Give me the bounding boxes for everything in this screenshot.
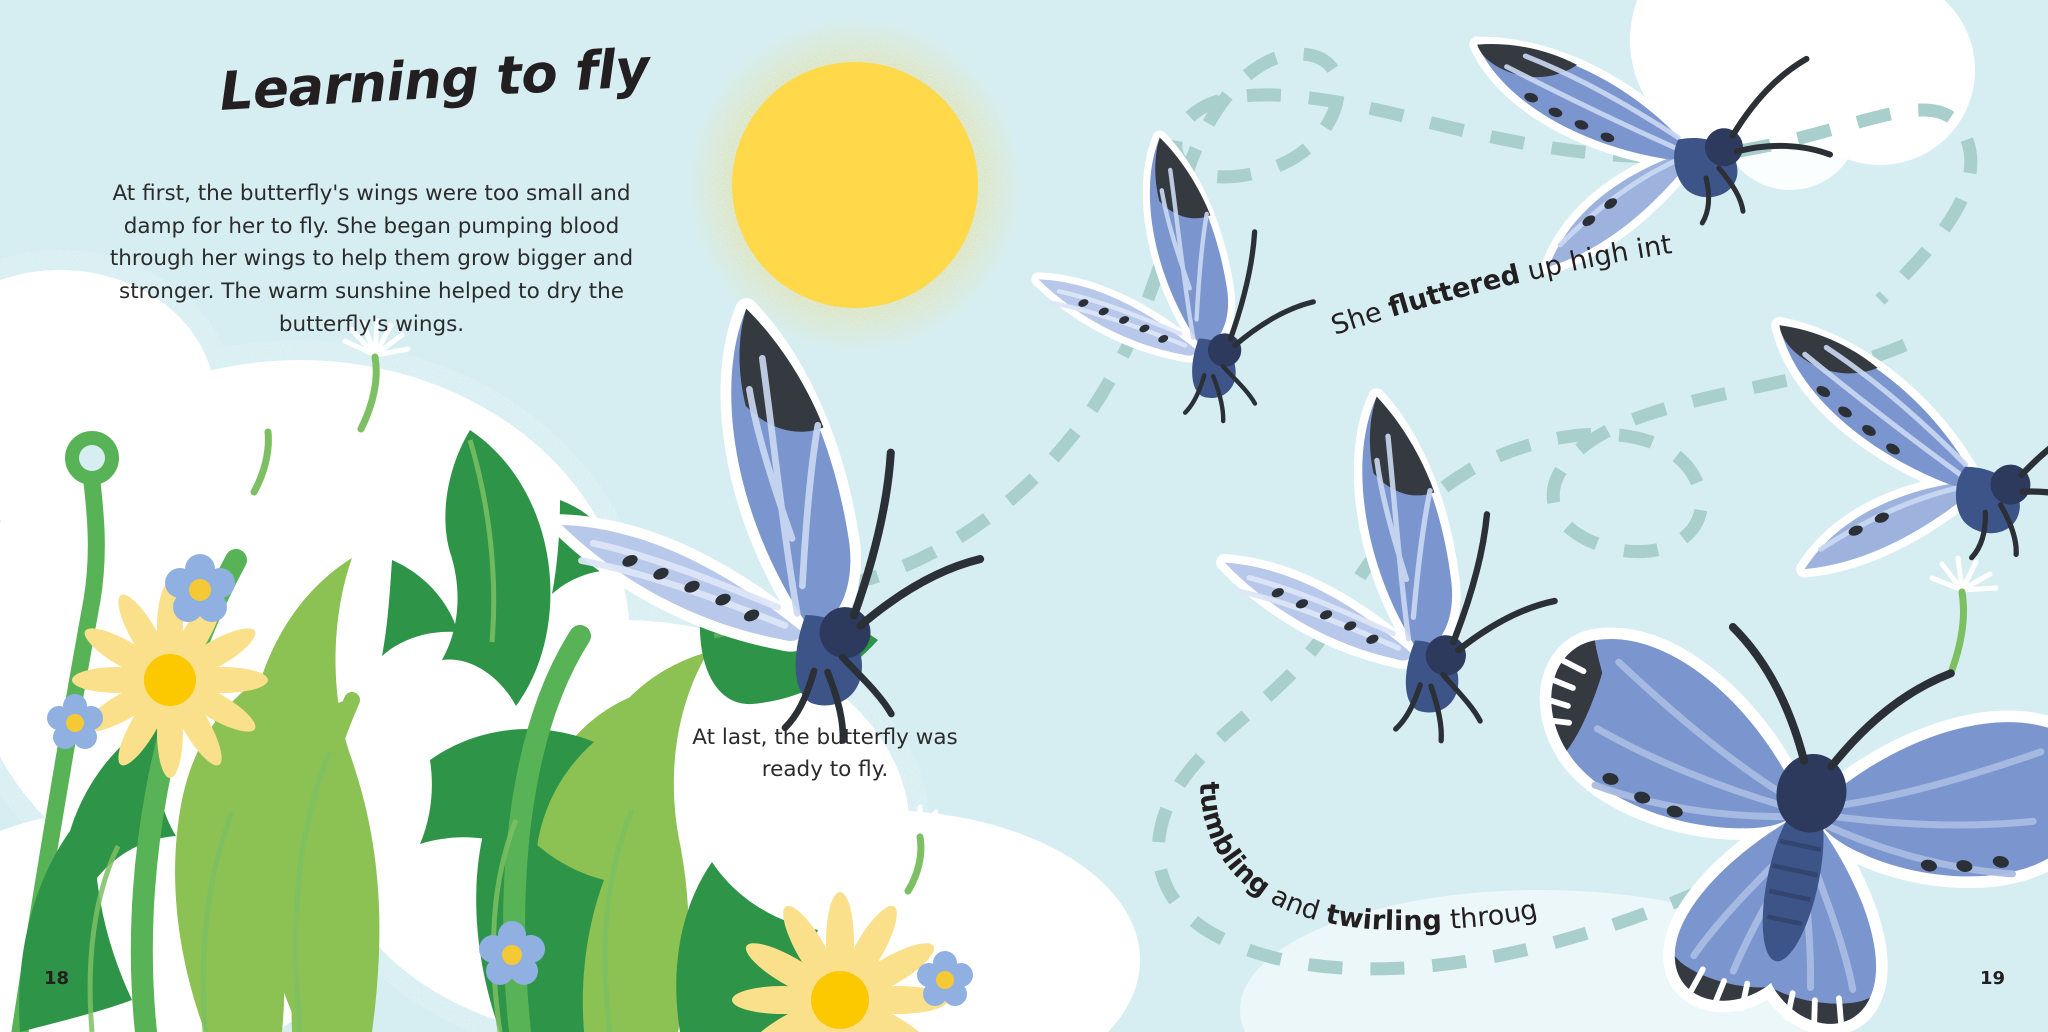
tumble-post: through the air.	[0, 0, 1540, 936]
tumble-bold1: tumbling	[1193, 781, 1276, 903]
page-number-right: 19	[1980, 968, 2005, 989]
body-paragraph: At first, the butterfly's wings were too…	[104, 178, 639, 341]
flutter-bold: fluttered	[1385, 259, 1523, 324]
tumble-bold2: twirling	[1323, 899, 1442, 937]
curved-label-tumble: tumbling and twirling through the air.	[0, 0, 1540, 937]
curved-text-layer: She fluttered up high into the sky, tumb…	[0, 0, 2048, 1032]
leaf-caption: At last, the butterfly was ready to fly.	[690, 722, 960, 787]
book-spread: She fluttered up high into the sky, tumb…	[0, 0, 2048, 1032]
flutter-pre: She	[1327, 294, 1393, 342]
page-number-left: 18	[44, 968, 69, 989]
